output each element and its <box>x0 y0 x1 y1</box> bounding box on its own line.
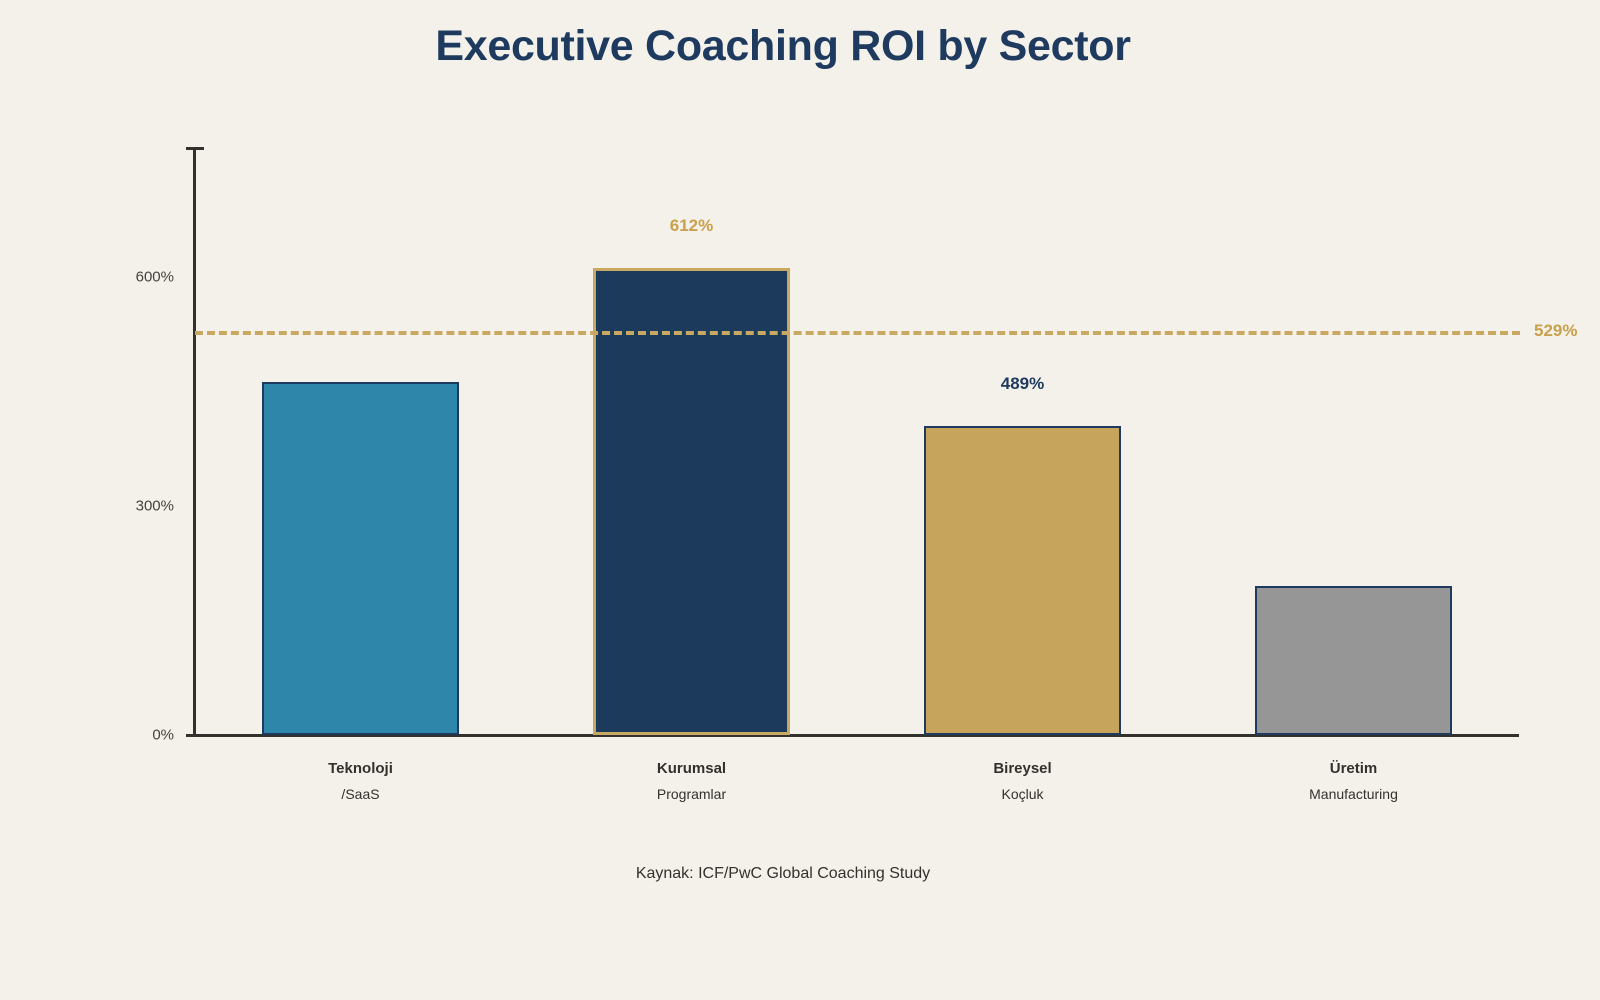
bar-value-label-bireysel: 489% <box>1001 374 1044 394</box>
category-sublabel-uretim: Manufacturing <box>1309 784 1398 804</box>
category-label-group-bireysel: BireyselKoçluk <box>993 759 1051 804</box>
category-name-kurumsal: Kurumsal <box>657 759 726 779</box>
category-name-uretim: Üretim <box>1309 759 1398 779</box>
category-sublabel-kurumsal: Programlar <box>657 784 726 804</box>
category-sublabel-teknoloji: /SaaS <box>328 784 393 804</box>
y-axis-tick-label: 0% <box>34 727 174 744</box>
bar-kurumsal[interactable] <box>593 268 790 735</box>
average-reference-label: 529% <box>1534 321 1577 341</box>
category-label-group-teknoloji: Teknoloji/SaaS <box>328 759 393 804</box>
source-note: Kaynak: ICF/PwC Global Coaching Study <box>0 865 1566 883</box>
y-axis-tick-labels: 0%300%600% <box>0 0 174 1000</box>
category-name-teknoloji: Teknoloji <box>328 759 393 779</box>
category-label-group-uretim: ÜretimManufacturing <box>1309 759 1398 804</box>
chart-title: Executive Coaching ROI by Sector <box>0 22 1566 71</box>
chart-canvas: Executive Coaching ROI by Sector 0%300%6… <box>0 0 1600 1000</box>
category-label-group-kurumsal: KurumsalProgramlar <box>657 759 726 804</box>
bar-teknoloji[interactable] <box>262 382 459 735</box>
bar-uretim[interactable] <box>1255 586 1452 735</box>
category-sublabel-bireysel: Koçluk <box>993 784 1051 804</box>
y-axis-tick-label: 300% <box>34 497 174 514</box>
y-axis-spine <box>193 147 196 736</box>
y-axis-tick-label: 600% <box>34 268 174 285</box>
bar-bireysel[interactable] <box>924 426 1121 735</box>
bar-value-label-kurumsal: 612% <box>670 216 713 236</box>
average-reference-line <box>195 331 1520 335</box>
category-name-bireysel: Bireysel <box>993 759 1051 779</box>
